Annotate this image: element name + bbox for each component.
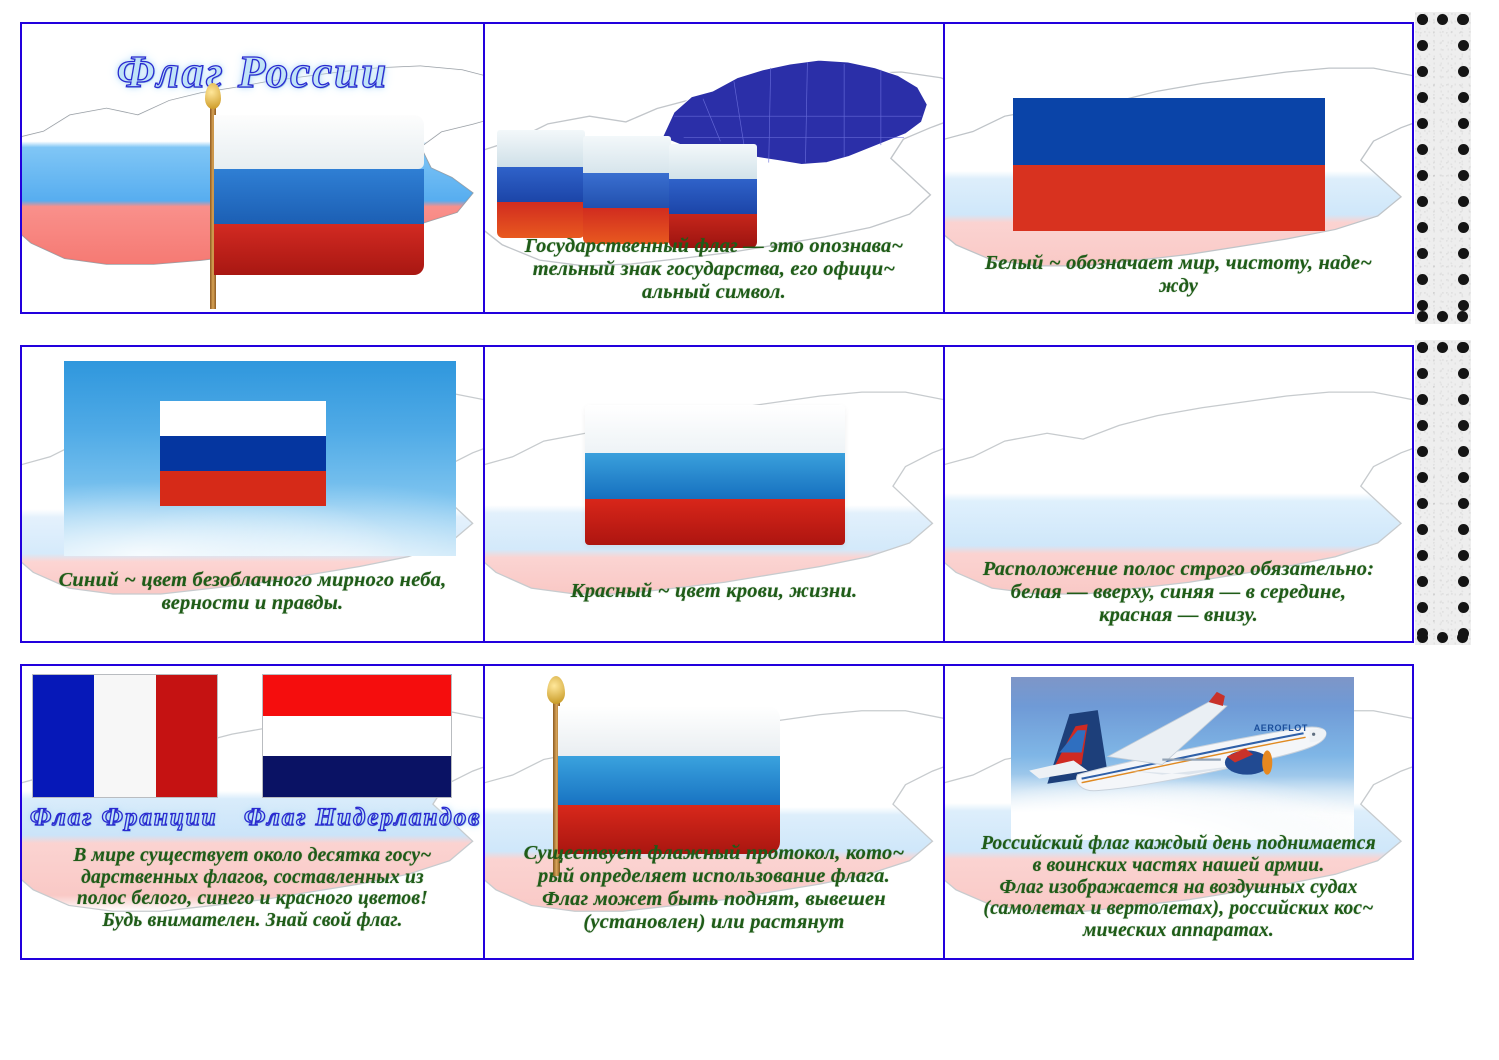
- aeroflot-wordmark: AEROFLOT: [1254, 723, 1308, 733]
- flag-stripe-red: [1013, 165, 1325, 232]
- label-netherlands: Флаг Нидерландов: [244, 804, 481, 832]
- perforation-dot: [1417, 170, 1428, 181]
- perforation-dot: [1417, 222, 1428, 233]
- perforation-dot: [1417, 632, 1428, 643]
- flag-stripe-red: [160, 471, 326, 506]
- perforation-dot: [1437, 311, 1448, 322]
- perforation-dot: [1458, 446, 1469, 457]
- perforation-dot: [1458, 394, 1469, 405]
- perforation-dot: [1417, 576, 1428, 587]
- perforation-dot: [1417, 498, 1428, 509]
- panel-flag-protocol[interactable]: Существует флажный протокол, кото~ рый о…: [483, 664, 945, 960]
- france-stripe-white: [94, 675, 155, 797]
- perforation-dot: [1417, 472, 1428, 483]
- tricolor-flag-on-sky-photo: [64, 361, 456, 556]
- perforation-dot: [1458, 274, 1469, 285]
- flag-finial-icon: [547, 676, 565, 704]
- panel-similar-flags[interactable]: Флаг Франции Флаг Нидерландов В мире сущ…: [20, 664, 485, 960]
- waving-tricolor-flag: [585, 405, 845, 545]
- panel-caption: Российский флаг каждый день поднимается …: [951, 833, 1406, 942]
- waving-flag: [558, 706, 780, 854]
- netherlands-flag: [262, 674, 452, 798]
- perforation-dot: [1417, 92, 1428, 103]
- perforation-dot: [1457, 311, 1468, 322]
- flag-stripe-blue: [1013, 98, 1325, 165]
- poster-row-1: Флаг России: [20, 22, 1414, 314]
- perforation-dot: [1417, 550, 1428, 561]
- perforation-dot: [1458, 144, 1469, 155]
- panel-caption: Существует флажный протокол, кото~ рый о…: [491, 842, 937, 934]
- perforation-dot: [1417, 300, 1428, 311]
- perforation-dot: [1457, 342, 1468, 353]
- perforation-dot: [1458, 524, 1469, 535]
- poster-row-3: Флаг Франции Флаг Нидерландов В мире сущ…: [20, 664, 1414, 960]
- perforation-dot: [1417, 602, 1428, 613]
- perforation-dot: [1417, 14, 1428, 25]
- perforation-dot: [1417, 342, 1428, 353]
- panel-state-flag-definition[interactable]: Государственный флаг — это опознава~ тел…: [483, 22, 945, 314]
- perforation-dot: [1458, 170, 1469, 181]
- perforation-dot: [1458, 576, 1469, 587]
- perforation-dot: [1458, 550, 1469, 561]
- perforation-dot: [1458, 300, 1469, 311]
- perforation-dot: [1417, 118, 1428, 129]
- panel-caption: Красный ~ цвет крови, жизни.: [491, 580, 937, 603]
- filmstrip-row-2: [1415, 340, 1471, 645]
- perforation-dot: [1417, 394, 1428, 405]
- panel-title-flag-of-russia[interactable]: Флаг России: [20, 22, 485, 314]
- perforation-dot: [1417, 420, 1428, 431]
- perforation-dot: [1417, 66, 1428, 77]
- perforation-dot: [1458, 248, 1469, 259]
- panel-caption: В мире существует около десятка госу~ да…: [28, 845, 477, 932]
- airplane-icon: [1011, 677, 1354, 840]
- flag-stripe-blue: [160, 436, 326, 471]
- panel-white-meaning[interactable]: Белый ~ обозначает мир, чистоту, наде~ ж…: [943, 22, 1414, 314]
- three-waving-flags: [497, 122, 777, 242]
- perforation-dot: [1458, 368, 1469, 379]
- aeroflot-airplane-photo: AEROFLOT: [1011, 677, 1354, 840]
- perforation-dot: [1437, 14, 1448, 25]
- perforation-dot: [1458, 118, 1469, 129]
- perforation-dot: [1417, 368, 1428, 379]
- panel-caption: Синий ~ цвет безоблачного мирного неба, …: [28, 569, 477, 615]
- filmstrip-row-1: [1415, 12, 1471, 324]
- perforation-holes: [1415, 12, 1471, 324]
- france-flag: [32, 674, 218, 798]
- perforation-dot: [1458, 472, 1469, 483]
- panel-flag-usage[interactable]: AEROFLOT Российский флаг каждый день под…: [943, 664, 1414, 960]
- poster-row-2: Синий ~ цвет безоблачного мирного неба, …: [20, 345, 1414, 643]
- france-stripe-red: [156, 675, 217, 797]
- panel-stripe-order[interactable]: Расположение полос строго обязательно: б…: [943, 345, 1414, 643]
- perforation-dot: [1417, 274, 1428, 285]
- perforation-dot: [1437, 342, 1448, 353]
- panel-caption: Расположение полос строго обязательно: б…: [951, 558, 1406, 627]
- label-france: Флаг Франции: [30, 804, 218, 832]
- perforation-dot: [1417, 524, 1428, 535]
- perforation-dot: [1417, 196, 1428, 207]
- russian-tricolor-flag: [160, 401, 326, 506]
- perforation-dot: [1417, 144, 1428, 155]
- perforation-dot: [1437, 632, 1448, 643]
- perforation-dot: [1458, 66, 1469, 77]
- perforation-dot: [1458, 196, 1469, 207]
- perforation-holes: [1415, 340, 1471, 645]
- waving-flag: [214, 115, 424, 275]
- perforation-dot: [1457, 632, 1468, 643]
- panel-caption: Белый ~ обозначает мир, чистоту, наде~ ж…: [951, 252, 1406, 298]
- perforation-dot: [1458, 602, 1469, 613]
- perforation-dot: [1458, 222, 1469, 233]
- france-stripe-blue: [33, 675, 94, 797]
- perforation-dot: [1417, 446, 1428, 457]
- flag-stripe-white: [160, 401, 326, 436]
- blue-red-bicolor-banner: [1013, 98, 1325, 231]
- panel-blue-meaning[interactable]: Синий ~ цвет безоблачного мирного неба, …: [20, 345, 485, 643]
- perforation-dot: [1417, 311, 1428, 322]
- perforation-dot: [1458, 420, 1469, 431]
- perforation-dot: [1458, 92, 1469, 103]
- perforation-dot: [1457, 14, 1468, 25]
- perforation-dot: [1458, 40, 1469, 51]
- flag-on-pole-illustration: [182, 79, 452, 309]
- panel-caption: Государственный флаг — это опознава~ тел…: [491, 235, 937, 304]
- poster-canvas: Флаг России: [0, 0, 1499, 1060]
- flag-finial-icon: [205, 83, 221, 109]
- perforation-dot: [1417, 40, 1428, 51]
- netherlands-stripe-red: [263, 675, 451, 716]
- perforation-dot: [1458, 498, 1469, 509]
- netherlands-stripe-blue: [263, 756, 451, 797]
- perforation-dot: [1417, 248, 1428, 259]
- panel-red-meaning[interactable]: Красный ~ цвет крови, жизни.: [483, 345, 945, 643]
- netherlands-stripe-white: [263, 716, 451, 757]
